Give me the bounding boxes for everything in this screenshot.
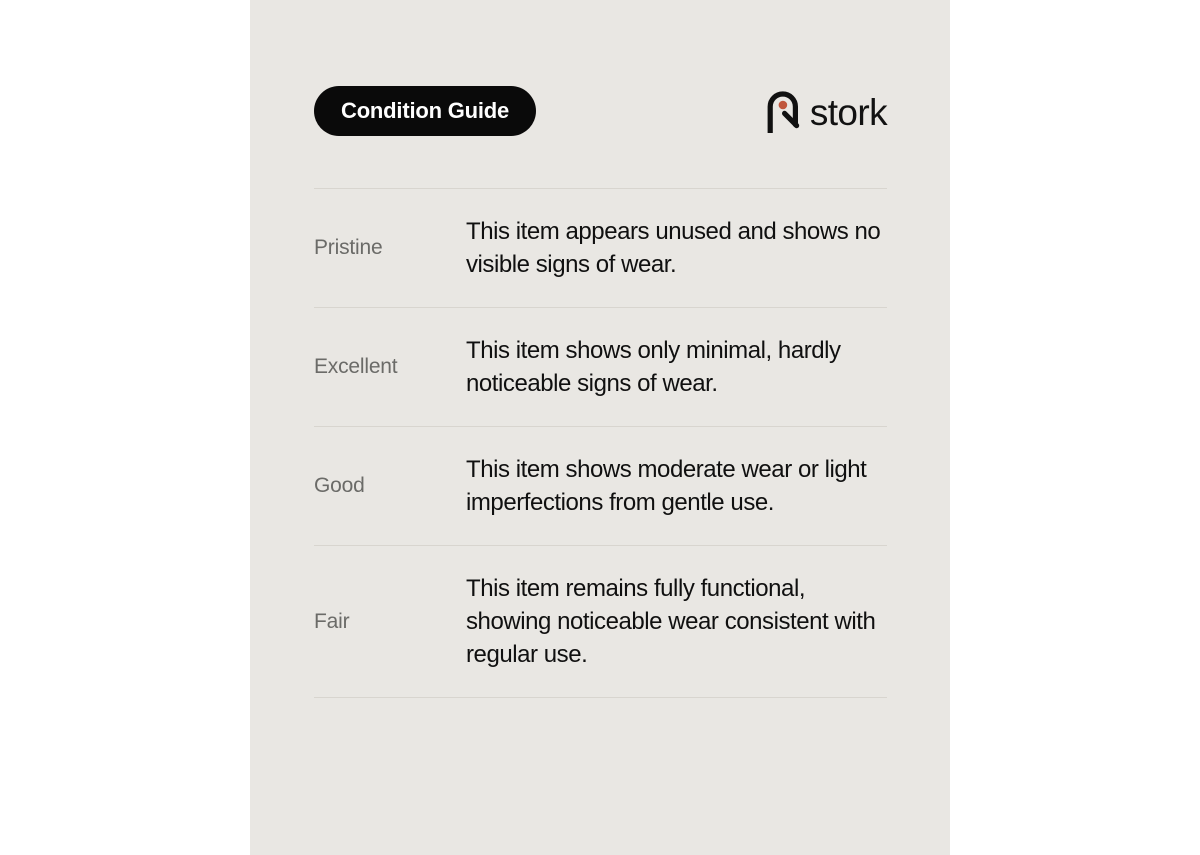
condition-description: This item remains fully functional, show… bbox=[466, 572, 887, 671]
page-root: Condition Guide stork Pristine This item… bbox=[0, 0, 1200, 855]
table-row: Excellent This item shows only minimal, … bbox=[314, 308, 887, 426]
table-row: Fair This item remains fully functional,… bbox=[314, 546, 887, 697]
condition-label: Pristine bbox=[314, 234, 466, 261]
stork-head-icon bbox=[765, 89, 801, 133]
brand-logo: stork bbox=[765, 85, 887, 137]
table-row: Good This item shows moderate wear or li… bbox=[314, 427, 887, 545]
condition-description: This item shows only minimal, hardly not… bbox=[466, 334, 887, 400]
condition-label: Good bbox=[314, 472, 466, 499]
condition-label: Fair bbox=[314, 608, 466, 635]
card-header: Condition Guide stork bbox=[314, 85, 887, 137]
condition-guide-badge: Condition Guide bbox=[314, 86, 536, 136]
table-row: Pristine This item appears unused and sh… bbox=[314, 189, 887, 307]
condition-guide-table: Pristine This item appears unused and sh… bbox=[314, 188, 887, 698]
condition-guide-card: Condition Guide stork Pristine This item… bbox=[250, 0, 950, 855]
condition-description: This item appears unused and shows no vi… bbox=[466, 215, 887, 281]
condition-description: This item shows moderate wear or light i… bbox=[466, 453, 887, 519]
brand-wordmark: stork bbox=[810, 94, 887, 131]
row-divider bbox=[314, 697, 887, 698]
condition-label: Excellent bbox=[314, 353, 466, 380]
